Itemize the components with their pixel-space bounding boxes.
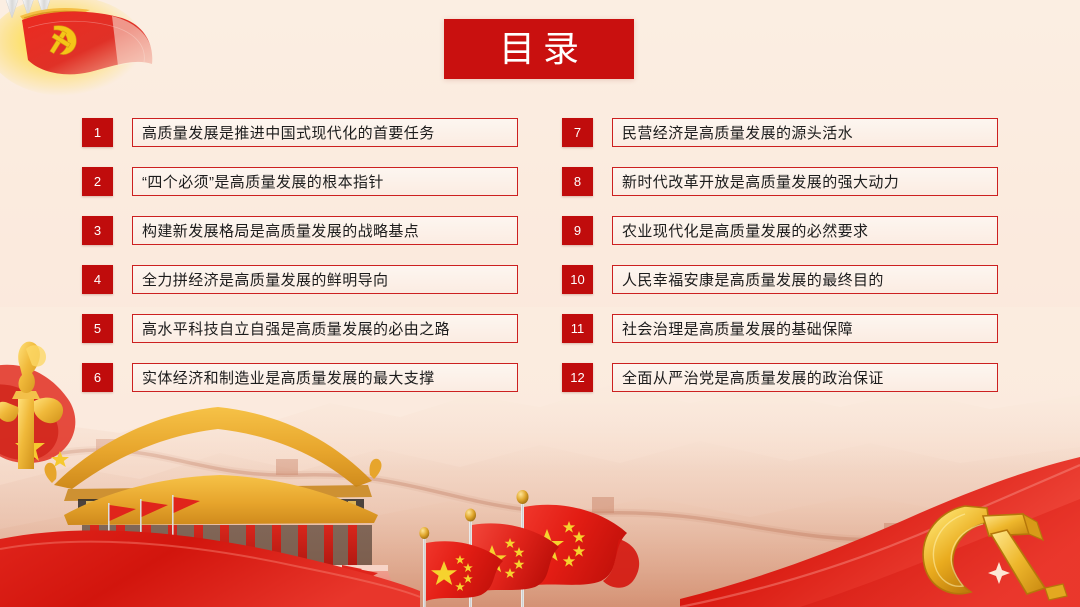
item-box[interactable]: 人民幸福安康是高质量发展的最终目的 bbox=[612, 265, 998, 294]
item-number-badge: 8 bbox=[562, 167, 593, 196]
item-box[interactable]: 民营经济是高质量发展的源头活水 bbox=[612, 118, 998, 147]
item-number-badge: 12 bbox=[562, 363, 593, 392]
item-number-badge: 4 bbox=[82, 265, 113, 294]
item-label: 构建新发展格局是高质量发展的战略基点 bbox=[142, 220, 419, 241]
cpc-emblem-icon bbox=[895, 492, 1080, 607]
item-box[interactable]: 构建新发展格局是高质量发展的战略基点 bbox=[132, 216, 518, 245]
red-ribbon-left bbox=[0, 487, 420, 607]
item-box[interactable]: 新时代改革开放是高质量发展的强大动力 bbox=[612, 167, 998, 196]
item-box[interactable]: “四个必须”是高质量发展的根本指针 bbox=[132, 167, 518, 196]
item-label: “四个必须”是高质量发展的根本指针 bbox=[142, 171, 384, 192]
item-label: 社会治理是高质量发展的基础保障 bbox=[622, 318, 853, 339]
item-number-badge: 9 bbox=[562, 216, 593, 245]
item-number-badge: 1 bbox=[82, 118, 113, 147]
item-box[interactable]: 高质量发展是推进中国式现代化的首要任务 bbox=[132, 118, 518, 147]
item-label: 农业现代化是高质量发展的必然要求 bbox=[622, 220, 868, 241]
item-label: 全面从严治党是高质量发展的政治保证 bbox=[622, 367, 884, 388]
item-box[interactable]: 全力拼经济是高质量发展的鲜明导向 bbox=[132, 265, 518, 294]
item-box[interactable]: 全面从严治党是高质量发展的政治保证 bbox=[612, 363, 998, 392]
item-number-badge: 11 bbox=[562, 314, 593, 343]
item-number-badge: 3 bbox=[82, 216, 113, 245]
item-label: 民营经济是高质量发展的源头活水 bbox=[622, 122, 853, 143]
item-number-badge: 7 bbox=[562, 118, 593, 147]
chinese-national-flags bbox=[395, 477, 685, 607]
item-box[interactable]: 社会治理是高质量发展的基础保障 bbox=[612, 314, 998, 343]
item-number-badge: 10 bbox=[562, 265, 593, 294]
slide-root: 目录 1 高质量发展是推进中国式现代化的首要任务 2 “四个必须”是高质量发展的… bbox=[0, 0, 1080, 607]
item-label: 新时代改革开放是高质量发展的强大动力 bbox=[622, 171, 899, 192]
item-label: 高质量发展是推进中国式现代化的首要任务 bbox=[142, 122, 435, 143]
item-label: 人民幸福安康是高质量发展的最终目的 bbox=[622, 269, 884, 290]
item-label: 全力拼经济是高质量发展的鲜明导向 bbox=[142, 269, 388, 290]
item-box[interactable]: 农业现代化是高质量发展的必然要求 bbox=[612, 216, 998, 245]
item-number-badge: 2 bbox=[82, 167, 113, 196]
